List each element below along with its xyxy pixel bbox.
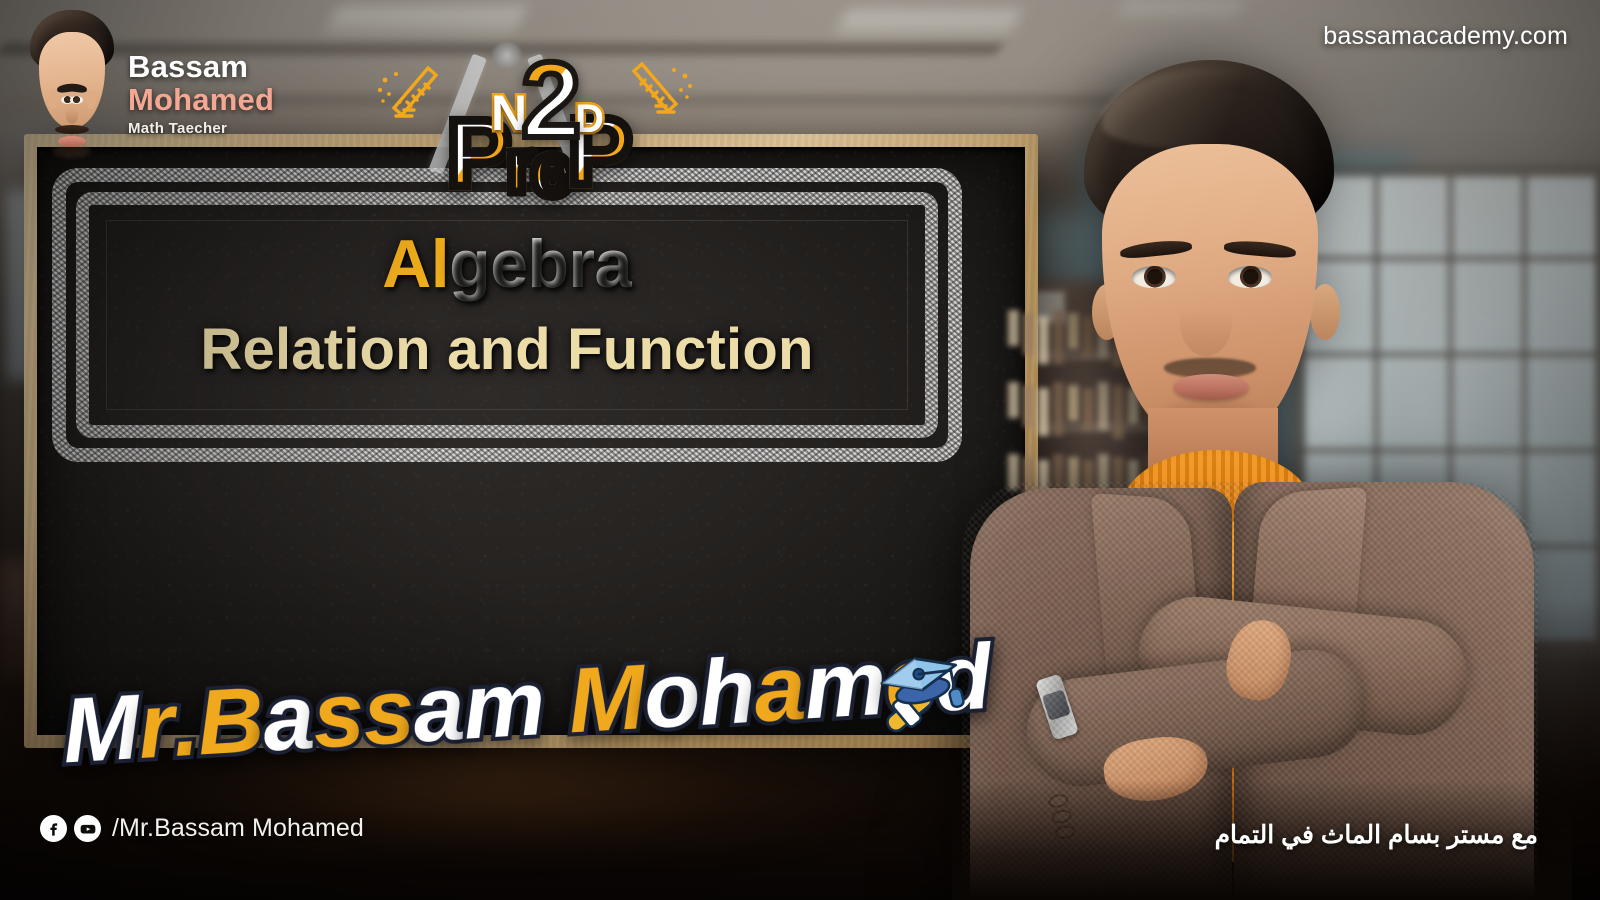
teacher-eye-right [1228,266,1272,288]
topic-subtitle: Relation and Function [52,316,962,383]
teacher-photo [952,52,1572,900]
teacher-eye-left [1132,266,1176,288]
teacher-role: Math Taecher [128,120,274,137]
thumbnail-canvas: Algebra Relation and Function Bassam Moh… [0,0,1600,900]
cuff-button [1054,824,1076,841]
signature-letter: s [310,662,366,770]
ceiling-light-icon [835,10,1021,40]
teacher-last-name: Mohamed [128,83,274,116]
arabic-tagline: مع مستر بسام الماث في التمام [1215,820,1538,850]
avatar-moustache [55,125,89,134]
social-links: /Mr.Bassam Mohamed [40,814,364,843]
subject-title-accent: Al [382,226,449,302]
subject-title: Algebra [52,230,962,298]
subject-title-rest: gebra [449,226,632,302]
ceiling-light-icon [1116,0,1243,22]
sign-text-block: Algebra Relation and Function [52,230,962,383]
ceiling-light-icon [323,6,527,40]
social-handle: /Mr.Bassam Mohamed [112,814,364,843]
signature-letter: M [565,645,647,754]
teacher-avatar-icon [26,6,118,142]
teacher-name-block: Bassam Mohamed Math Taecher [128,50,274,137]
facebook-icon[interactable] [40,815,67,842]
avatar-ear-right [86,90,96,109]
signature-letter: a [751,636,807,744]
graduation-cap-icon [867,643,969,748]
signature-letter: s [360,659,416,767]
signature-letter: a [260,665,316,773]
signature-letter: m [460,651,547,761]
teacher-mouth [1174,374,1248,400]
avatar-eye-right [70,96,83,104]
signature-letter: M [60,675,142,784]
cuff-button [1047,792,1069,809]
logo-digit-2: 2 [521,58,581,142]
youtube-icon[interactable] [74,815,101,842]
avatar-face [39,32,105,128]
signature-letter: B [194,668,266,777]
cuff-button [1051,808,1073,825]
website-url: bassamacademy.com [1323,22,1568,51]
signature-letter: h [696,639,757,747]
avatar-nose [66,108,78,124]
avatar-ear-left [48,90,58,109]
teacher-first-name: Bassam [128,50,274,83]
signature-letter: o [641,642,702,750]
signature-letter: a [410,656,466,764]
teacher-nose [1180,290,1232,356]
avatar-chin-shadow [53,144,91,158]
prep-logo: N2D PreP [372,46,702,236]
